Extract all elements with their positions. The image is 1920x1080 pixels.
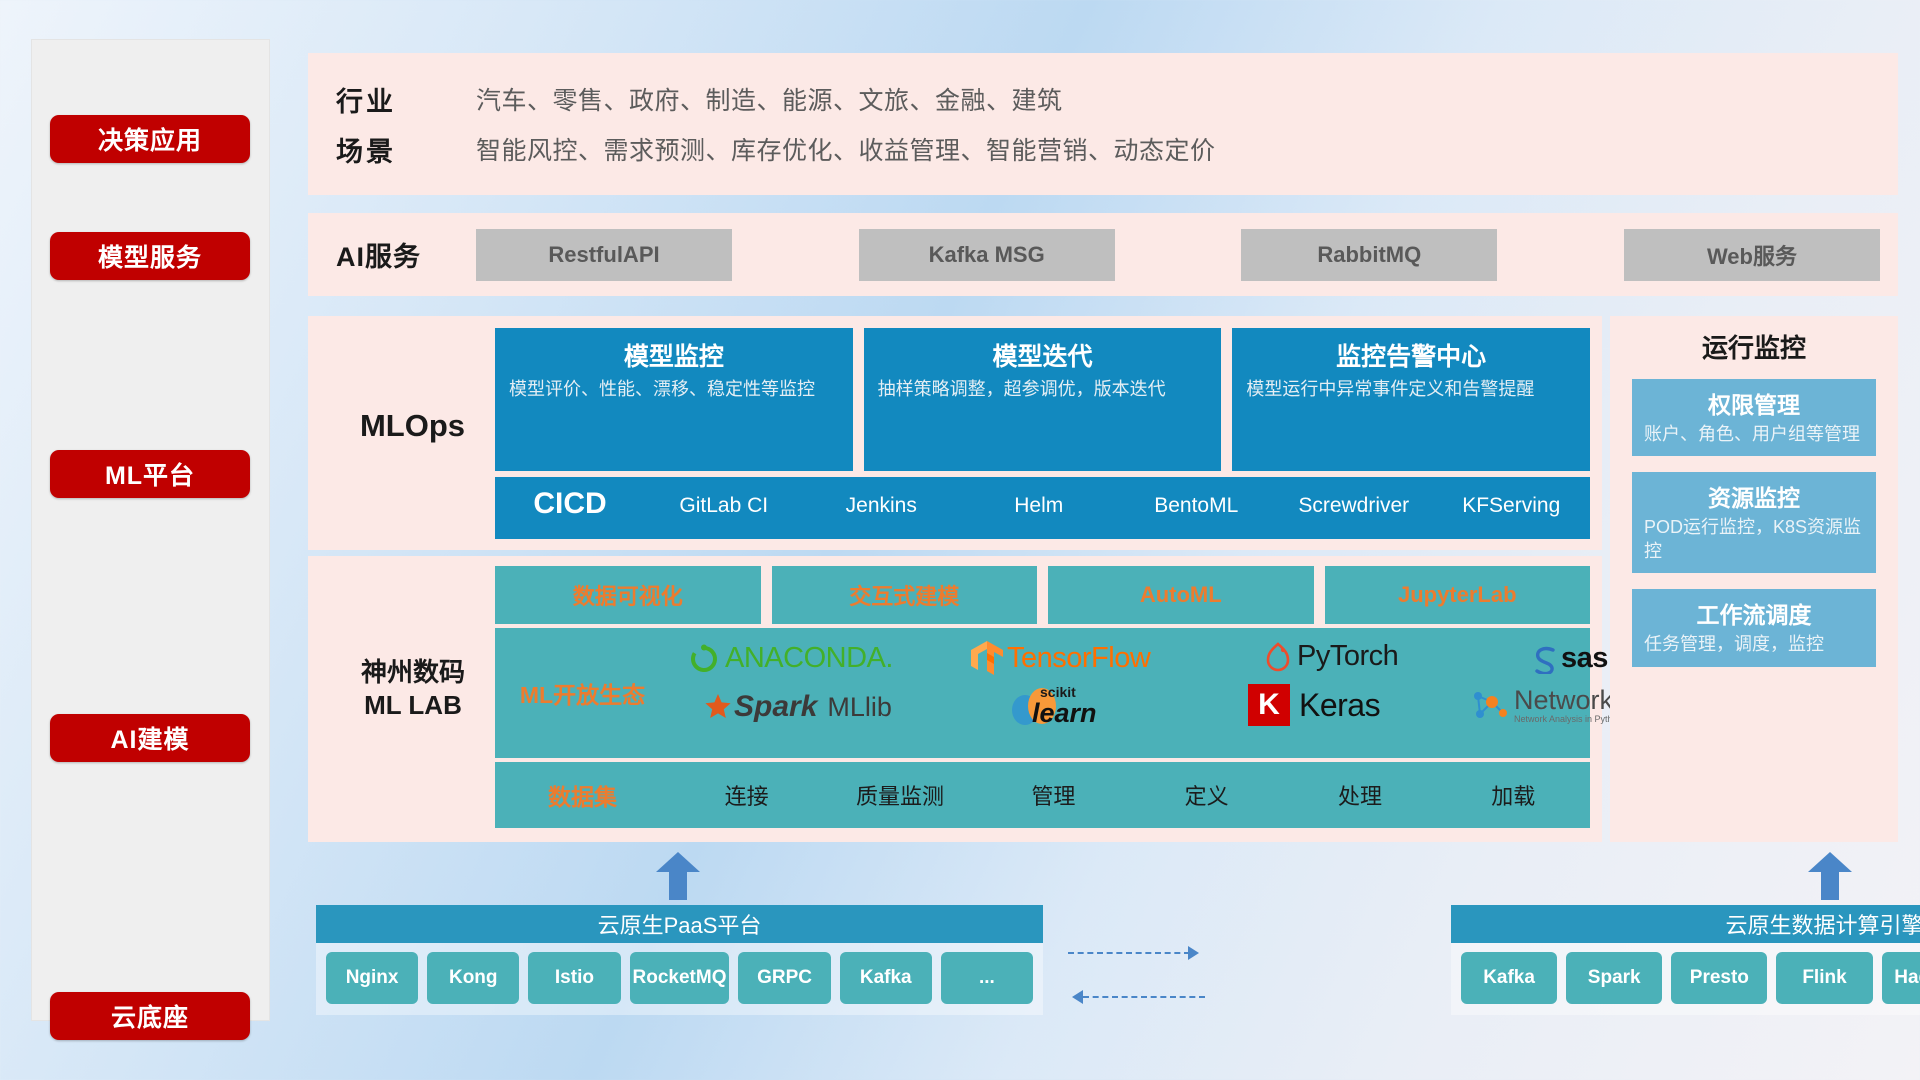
apache-spark-star-icon — [704, 694, 732, 720]
cicd-item-gitlab-ci[interactable]: GitLab CI — [645, 477, 803, 519]
scenario-row: 场景 智能风控、需求预测、库存优化、收益管理、智能营销、动态定价 — [336, 124, 1898, 174]
industry-value: 汽车、零售、政府、制造、能源、文旅、金融、建筑 — [476, 81, 1063, 117]
mlops-card-desc: 模型运行中异常事件定义和告警提醒 — [1246, 378, 1576, 402]
cloud-native-data-engine-chip-group: Kafka Spark Presto Flink Hadoop Storm ..… — [1451, 943, 1920, 1013]
tensorflow-logo-text: TensorFlow — [1007, 642, 1150, 675]
engine-chip-presto[interactable]: Presto — [1671, 952, 1767, 1004]
ops-card-desc: 账户、角色、用户组等管理 — [1644, 423, 1864, 446]
paas-chip-istio[interactable]: Istio — [528, 952, 620, 1004]
ai-service-chip-kafka-msg[interactable]: Kafka MSG — [859, 229, 1115, 281]
rail-label-ml-platform[interactable]: ML平台 — [50, 450, 250, 498]
mllab-chip-jupyterlab[interactable]: JupyterLab — [1325, 566, 1591, 624]
industry-row: 行业 汽车、零售、政府、制造、能源、文旅、金融、建筑 — [336, 74, 1898, 124]
ai-service-key: AI服务 — [336, 235, 476, 274]
sas-logo-text: sas — [1561, 642, 1608, 675]
runtime-monitoring-column: 运行监控 权限管理 账户、角色、用户组等管理 资源监控 POD运行监控，K8S资… — [1610, 316, 1898, 842]
paas-chip-nginx[interactable]: Nginx — [326, 952, 418, 1004]
mlops-card-title: 监控告警中心 — [1246, 337, 1576, 373]
spark-logo-text: Spark — [734, 690, 817, 724]
ai-modeling-band: 神州数码 ML LAB 数据可视化 交互式建模 AutoML JupyterLa… — [308, 556, 1602, 842]
cicd-item-helm[interactable]: Helm — [960, 477, 1118, 519]
ml-platform-band: MLOps 模型监控 模型评价、性能、漂移、稳定性等监控 模型迭代 抽样策略调整… — [308, 316, 1602, 550]
pytorch-logo: PyTorch — [1265, 640, 1398, 673]
keras-k-icon: K — [1248, 684, 1290, 726]
dataset-item-quality-monitoring[interactable]: 质量监测 — [823, 779, 976, 811]
business-band: 行业 汽车、零售、政府、制造、能源、文旅、金融、建筑 场景 智能风控、需求预测、… — [308, 53, 1898, 195]
cicd-item-jenkins[interactable]: Jenkins — [803, 477, 961, 519]
keras-logo: K Keras — [1248, 684, 1380, 726]
rail-label-decision-app[interactable]: 决策应用 — [50, 115, 250, 163]
ops-card-desc: 任务管理，调度，监控 — [1644, 633, 1864, 656]
anaconda-logo-text: ANACONDA. — [725, 642, 893, 675]
layer-label-rail: 决策应用 模型服务 ML平台 AI建模 云底座 — [32, 40, 269, 1020]
ai-service-chip-group: RestfulAPI Kafka MSG RabbitMQ Web服务 — [476, 229, 1898, 281]
pytorch-icon — [1265, 641, 1291, 673]
mlops-key: MLOps — [330, 408, 495, 444]
networkx-logo: NetworkX Network Analysis in Python — [1470, 686, 1631, 724]
keras-logo-text: Keras — [1299, 687, 1380, 724]
mlops-card-desc: 模型评价、性能、漂移、稳定性等监控 — [509, 378, 839, 402]
mllab-key-line2: ML LAB — [328, 689, 498, 722]
dataset-item-management[interactable]: 管理 — [977, 779, 1130, 811]
sas-swirl-icon — [1530, 644, 1560, 674]
ml-open-ecosystem-row: ML开放生态 ANACONDA. — [495, 628, 1590, 758]
mlops-card-model-monitoring[interactable]: 模型监控 模型评价、性能、漂移、稳定性等监控 — [495, 328, 853, 471]
ai-service-chip-web-service[interactable]: Web服务 — [1624, 229, 1880, 281]
arrow-up-data-engine — [1808, 852, 1852, 900]
ops-card-permission-management[interactable]: 权限管理 账户、角色、用户组等管理 — [1632, 379, 1876, 456]
mlops-card-desc: 抽样策略调整，超参调优，版本迭代 — [878, 378, 1208, 402]
dash-connector-right — [1068, 952, 1190, 954]
anaconda-logo: ANACONDA. — [688, 642, 893, 675]
tensorflow-icon — [970, 640, 1004, 676]
mlops-card-model-iteration[interactable]: 模型迭代 抽样策略调整，超参调优，版本迭代 — [864, 328, 1222, 471]
ops-card-title: 权限管理 — [1644, 386, 1864, 420]
mllab-feature-chip-group: 数据可视化 交互式建模 AutoML JupyterLab — [495, 566, 1590, 624]
cicd-label: CICD — [495, 477, 645, 521]
dataset-item-connect[interactable]: 连接 — [670, 779, 823, 811]
mlops-card-title: 模型迭代 — [878, 337, 1208, 373]
cicd-item-kfserving[interactable]: KFServing — [1433, 477, 1591, 519]
engine-chip-flink[interactable]: Flink — [1776, 952, 1872, 1004]
cloud-native-paas-title: 云原生PaaS平台 — [316, 905, 1043, 943]
mllab-chip-interactive-modeling[interactable]: 交互式建模 — [772, 566, 1038, 624]
paas-chip-grpc[interactable]: GRPC — [738, 952, 830, 1004]
scikit-learn-logo: scikit learn — [1010, 686, 1056, 728]
ai-service-band: AI服务 RestfulAPI Kafka MSG RabbitMQ Web服务 — [308, 213, 1898, 296]
industry-key: 行业 — [336, 80, 476, 119]
dataset-item-loading[interactable]: 加载 — [1437, 779, 1590, 811]
dash-connector-left — [1083, 996, 1205, 998]
mlops-card-title: 模型监控 — [509, 337, 839, 373]
mllab-chip-automl[interactable]: AutoML — [1048, 566, 1314, 624]
ops-card-resource-monitoring[interactable]: 资源监控 POD运行监控，K8S资源监控 — [1632, 472, 1876, 573]
dash-arrow-left-head — [1072, 990, 1083, 1004]
networkx-graph-icon — [1470, 686, 1510, 724]
scenario-key: 场景 — [336, 130, 476, 169]
mllab-chip-data-visualization[interactable]: 数据可视化 — [495, 566, 761, 624]
engine-chip-kafka[interactable]: Kafka — [1461, 952, 1557, 1004]
mllib-logo-text: MLlib — [827, 692, 892, 723]
ai-service-chip-restfulapi[interactable]: RestfulAPI — [476, 229, 732, 281]
paas-chip-kong[interactable]: Kong — [427, 952, 519, 1004]
dataset-label: 数据集 — [495, 778, 670, 812]
spark-mllib-logo: Spark MLlib — [704, 690, 892, 724]
ai-service-chip-rabbitmq[interactable]: RabbitMQ — [1241, 229, 1497, 281]
paas-chip-kafka[interactable]: Kafka — [840, 952, 932, 1004]
arrow-up-paas — [656, 852, 700, 900]
ops-card-desc: POD运行监控，K8S资源监控 — [1644, 516, 1864, 563]
runtime-monitoring-title: 运行监控 — [1632, 328, 1876, 365]
engine-chip-spark[interactable]: Spark — [1566, 952, 1662, 1004]
dataset-item-processing[interactable]: 处理 — [1283, 779, 1436, 811]
engine-chip-hadoop[interactable]: Hadoop — [1882, 952, 1920, 1004]
mlops-card-group: 模型监控 模型评价、性能、漂移、稳定性等监控 模型迭代 抽样策略调整，超参调优，… — [495, 328, 1590, 471]
cloud-native-paas-block: 云原生PaaS平台 Nginx Kong Istio RocketMQ GRPC… — [316, 905, 1043, 1015]
cicd-item-bentoml[interactable]: BentoML — [1118, 477, 1276, 519]
architecture-main-column: 行业 汽车、零售、政府、制造、能源、文旅、金融、建筑 场景 智能风控、需求预测、… — [308, 0, 1898, 1080]
mllab-key-line1: 神州数码 — [328, 656, 498, 689]
cloud-native-data-engine-title: 云原生数据计算引擎 — [1451, 905, 1920, 943]
mlops-card-alert-center[interactable]: 监控告警中心 模型运行中异常事件定义和告警提醒 — [1232, 328, 1590, 471]
dash-arrow-right-head — [1188, 946, 1199, 960]
anaconda-icon — [688, 643, 720, 675]
cloud-native-data-engine-block: 云原生数据计算引擎 Kafka Spark Presto Flink Hadoo… — [1451, 905, 1920, 1015]
rail-label-cloud-base[interactable]: 云底座 — [50, 992, 250, 1040]
rail-label-model-service[interactable]: 模型服务 — [50, 232, 250, 280]
ops-card-workflow-scheduling[interactable]: 工作流调度 任务管理，调度，监控 — [1632, 589, 1876, 666]
cicd-item-screwdriver[interactable]: Screwdriver — [1275, 477, 1433, 519]
ops-card-title: 工作流调度 — [1644, 596, 1864, 630]
paas-chip-more[interactable]: ... — [941, 952, 1033, 1004]
ops-card-title: 资源监控 — [1644, 479, 1864, 513]
rail-label-ai-modeling[interactable]: AI建模 — [50, 714, 250, 762]
paas-chip-rocketmq[interactable]: RocketMQ — [630, 952, 730, 1004]
dataset-row: 数据集 连接 质量监测 管理 定义 处理 加载 — [495, 762, 1590, 828]
sas-logo: sas — [1530, 642, 1608, 675]
pytorch-logo-text: PyTorch — [1297, 640, 1398, 673]
tensorflow-logo: TensorFlow — [970, 640, 1150, 676]
learn-logo-text: learn — [1032, 698, 1097, 729]
ecosystem-logo-group: ANACONDA. TensorFlow — [670, 628, 1590, 758]
cicd-bar: CICD GitLab CI Jenkins Helm BentoML Scre… — [495, 477, 1590, 539]
ml-open-ecosystem-label: ML开放生态 — [495, 676, 670, 710]
cloud-native-paas-chip-group: Nginx Kong Istio RocketMQ GRPC Kafka ... — [316, 943, 1043, 1013]
mllab-key: 神州数码 ML LAB — [328, 656, 498, 721]
scenario-value: 智能风控、需求预测、库存优化、收益管理、智能营销、动态定价 — [476, 131, 1216, 167]
dataset-item-definition[interactable]: 定义 — [1130, 779, 1283, 811]
